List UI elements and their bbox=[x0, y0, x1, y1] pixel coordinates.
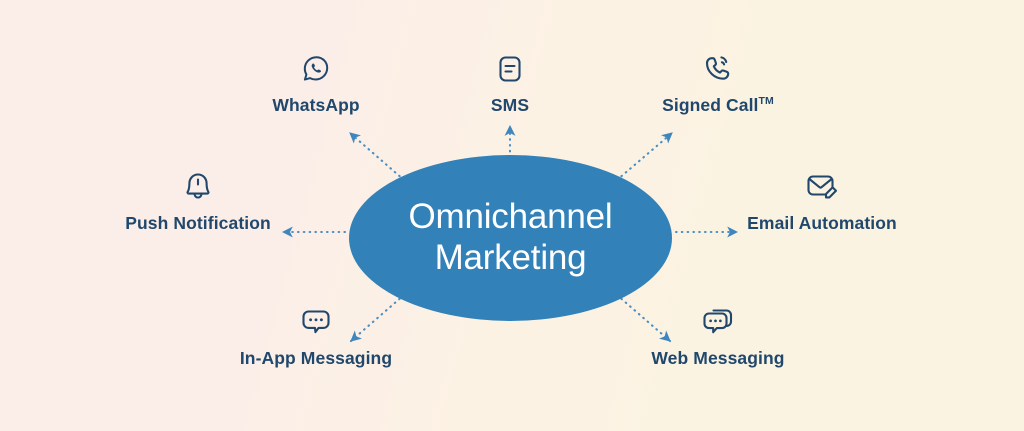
trademark-superscript: TM bbox=[759, 95, 774, 107]
node-label-whatsapp: WhatsApp bbox=[272, 95, 359, 116]
node-push-notification: Push Notification bbox=[78, 170, 318, 234]
whatsapp-icon bbox=[299, 52, 333, 86]
double-chat-bubble-icon bbox=[700, 305, 736, 339]
node-web-messaging: Web Messaging bbox=[598, 305, 838, 369]
phone-call-icon bbox=[701, 52, 735, 86]
node-label-signed-call: Signed CallTM bbox=[662, 95, 774, 116]
hub-label: Omnichannel Marketing bbox=[408, 197, 612, 278]
node-label-in-app-messaging: In-App Messaging bbox=[240, 348, 392, 369]
arrow-to-signed-call bbox=[617, 133, 672, 180]
bell-icon bbox=[181, 170, 215, 204]
node-sms: SMS bbox=[390, 52, 630, 116]
node-in-app-messaging: In-App Messaging bbox=[196, 305, 436, 369]
node-label-web-messaging: Web Messaging bbox=[651, 348, 784, 369]
node-label-push-notification: Push Notification bbox=[125, 213, 271, 234]
chat-bubble-icon bbox=[299, 305, 333, 339]
omnichannel-marketing-diagram: Omnichannel Marketing WhatsApp SMS bbox=[0, 0, 1024, 431]
node-email-automation: Email Automation bbox=[702, 170, 942, 234]
arrow-to-whatsapp bbox=[350, 133, 404, 180]
node-label-email-automation: Email Automation bbox=[747, 213, 897, 234]
sms-icon bbox=[493, 52, 527, 86]
envelope-edit-icon bbox=[803, 170, 841, 204]
hub-ellipse: Omnichannel Marketing bbox=[349, 155, 672, 321]
node-label-sms: SMS bbox=[491, 95, 529, 116]
node-label-signed-call-text: Signed Call bbox=[662, 95, 758, 115]
node-signed-call: Signed CallTM bbox=[598, 52, 838, 116]
